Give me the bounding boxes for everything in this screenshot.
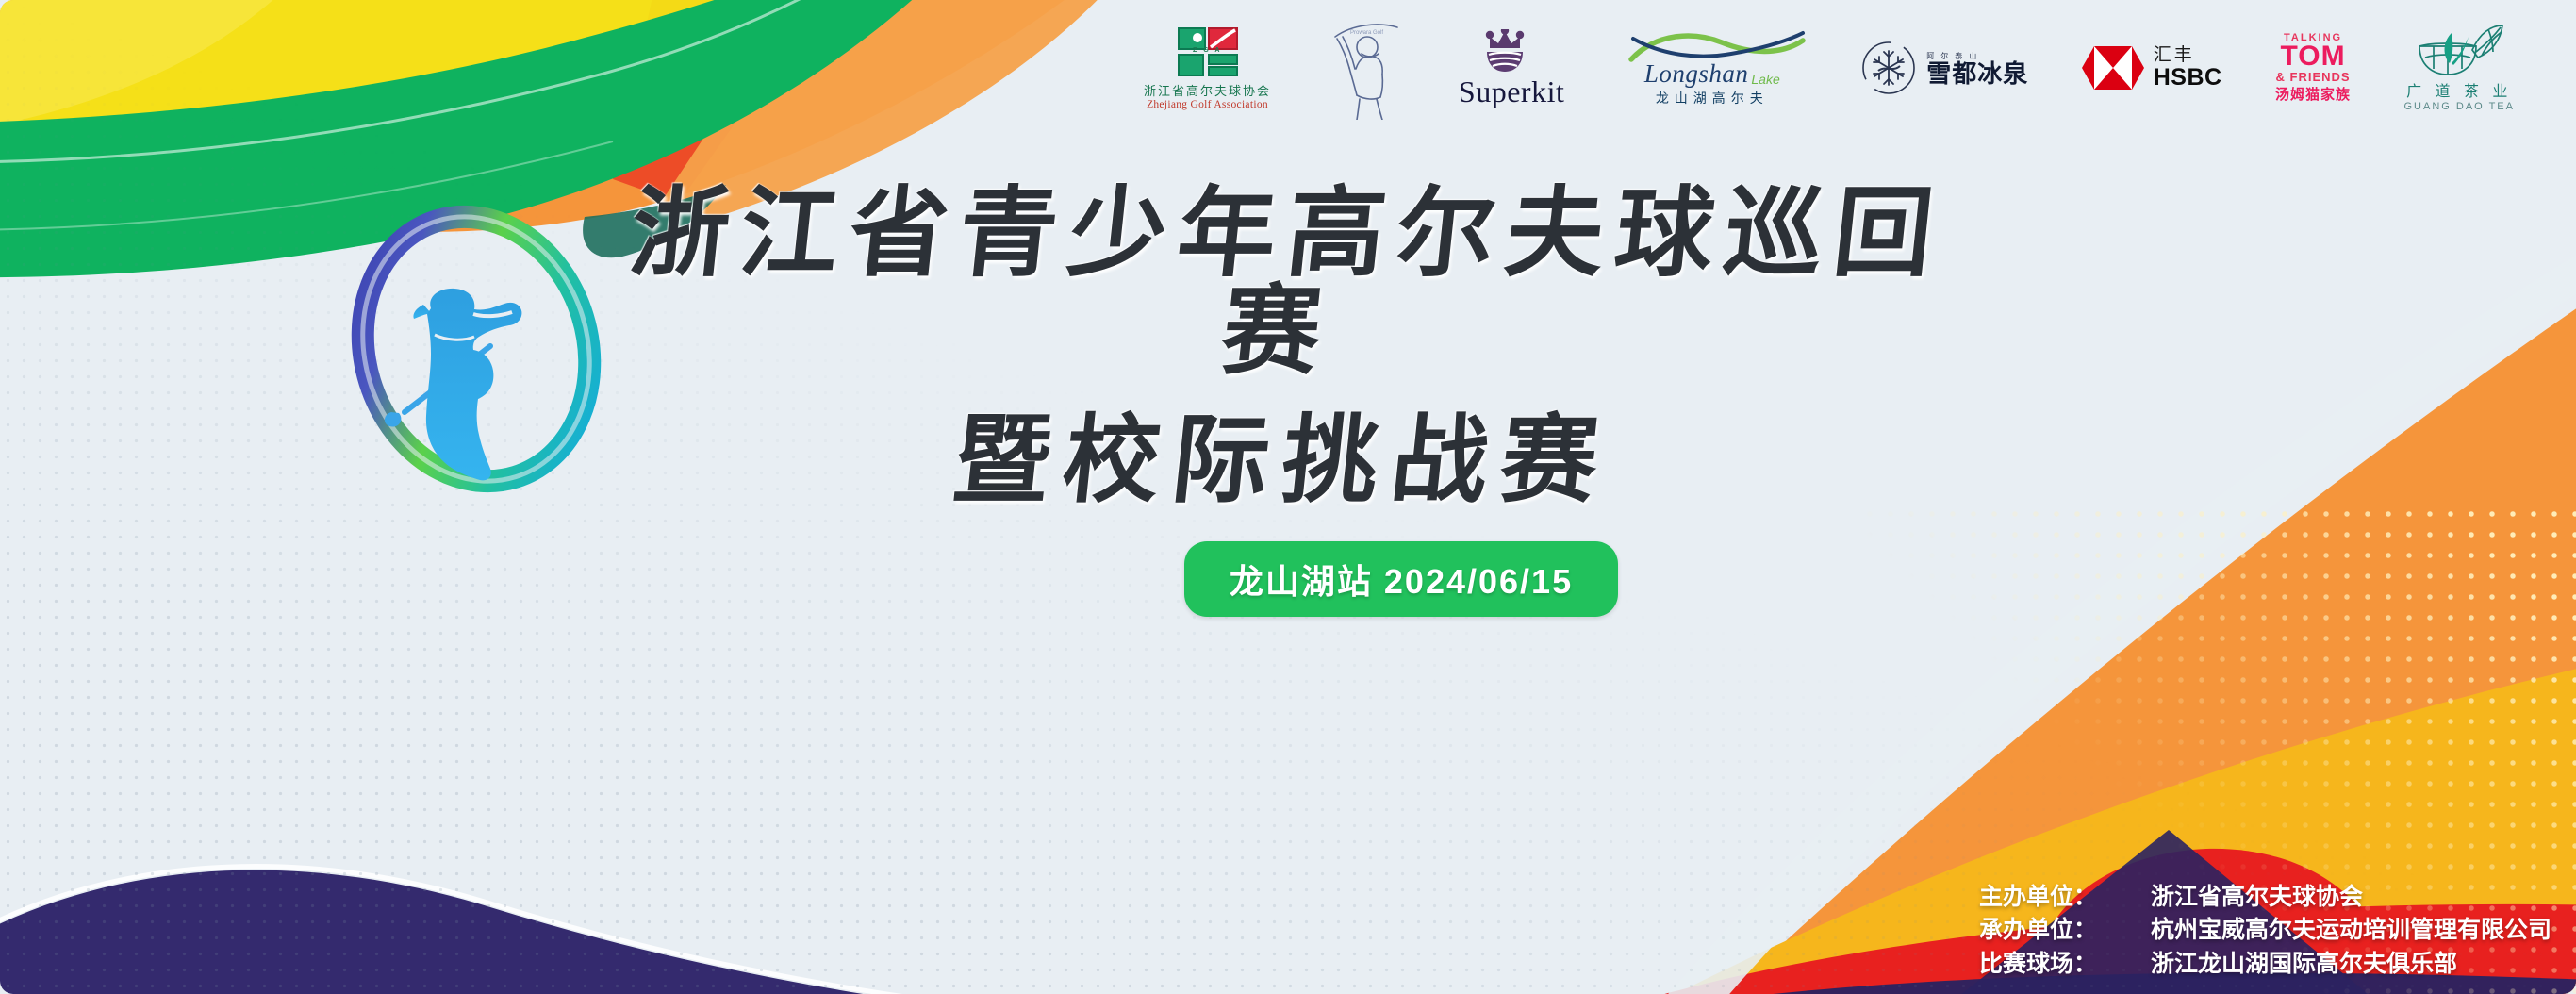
xuedu-label-cn: 雪都冰泉 bbox=[1926, 61, 2028, 86]
title-block: 浙江省青少年高尔夫球巡回赛 暨校际挑战赛 bbox=[585, 184, 1980, 508]
superkit-wordmark: Superkit bbox=[1459, 76, 1564, 107]
credit-label: 承办单位： bbox=[1979, 914, 2151, 948]
snowflake-icon bbox=[1859, 39, 1918, 97]
hsbc-label-cn: 汇丰 bbox=[2154, 46, 2222, 65]
talking-tom-label-cn: 汤姆猫家族 bbox=[2275, 84, 2351, 104]
credit-row: 主办单位： 浙江省高尔夫球协会 bbox=[1979, 881, 2551, 915]
sponsor-guang-dao-tea[interactable]: 广 道 茶 业 GUANG DAO TEA bbox=[2404, 12, 2515, 124]
credits-block: 主办单位： 浙江省高尔夫球协会 承办单位： 杭州宝威高尔夫运动培训管理有限公司 … bbox=[1979, 881, 2551, 982]
date-badge: 龙山湖站 2024/06/15 bbox=[1184, 541, 1618, 617]
zga-logo-icon: Z G A bbox=[1175, 25, 1241, 78]
page-title-line-2: 暨校际挑战赛 bbox=[580, 412, 1986, 508]
credit-value: 浙江省高尔夫球协会 bbox=[2151, 881, 2363, 915]
longshan-sub: Lake bbox=[1751, 72, 1779, 87]
longshan-wordmark: Longshan bbox=[1644, 61, 1749, 87]
page-title-line-1: 浙江省青少年高尔夫球巡回赛 bbox=[574, 184, 1990, 380]
credit-value: 杭州宝威高尔夫运动培训管理有限公司 bbox=[2151, 914, 2551, 948]
crown-icon bbox=[1484, 29, 1539, 75]
talking-tom-bottom: & FRIENDS bbox=[2276, 70, 2351, 84]
hsbc-wordmark: HSBC bbox=[2154, 65, 2222, 90]
longshan-label-cn: 龙山湖高尔夫 bbox=[1656, 89, 1769, 108]
line-golfer-icon: Prowara Golf bbox=[1324, 16, 1405, 120]
sponsor-prowara-golf[interactable]: Prowara Golf bbox=[1324, 12, 1405, 124]
sponsor-longshan-lake[interactable]: Longshan Lake 龙山湖高尔夫 bbox=[1618, 12, 1807, 124]
credit-label: 比赛球场： bbox=[1979, 948, 2151, 982]
hsbc-hexagon-icon bbox=[2082, 46, 2144, 90]
talking-tom-wordmark: TOM bbox=[2280, 43, 2345, 71]
guangdao-label-cn: 广 道 茶 业 bbox=[2406, 78, 2512, 101]
zga-monogram: Z G A bbox=[1193, 47, 1222, 54]
sponsor-label-cn: 浙江省高尔夫球协会 bbox=[1144, 81, 1271, 99]
guangdao-label-en: GUANG DAO TEA bbox=[2404, 101, 2515, 112]
credit-row: 承办单位： 杭州宝威高尔夫运动培训管理有限公司 bbox=[1979, 914, 2551, 948]
sponsor-xuedu-bingquan[interactable]: 阿尔泰山 雪都冰泉 bbox=[1859, 12, 2028, 124]
credit-value: 浙江龙山湖国际高尔夫俱乐部 bbox=[2151, 948, 2457, 982]
date-badge-text: 龙山湖站 2024/06/15 bbox=[1230, 555, 1573, 604]
sponsor-superkit[interactable]: Superkit bbox=[1459, 12, 1564, 124]
sponsor-label-en: Zhejiang Golf Association bbox=[1147, 99, 1268, 110]
sponsor-logo-strip: Z G A 浙江省高尔夫球协会 Zhejiang Golf Associatio… bbox=[1136, 0, 2522, 132]
sponsor-hsbc[interactable]: 汇丰 HSBC bbox=[2082, 12, 2222, 124]
sponsor-talking-tom[interactable]: TALKING TOM & FRIENDS 汤姆猫家族 bbox=[2275, 12, 2351, 124]
credit-row: 比赛球场： 浙江龙山湖国际高尔夫俱乐部 bbox=[1979, 948, 2551, 982]
credit-label: 主办单位： bbox=[1979, 881, 2151, 915]
svg-text:Prowara Golf: Prowara Golf bbox=[1350, 30, 1383, 36]
sponsor-zhejiang-golf-association[interactable]: Z G A 浙江省高尔夫球协会 Zhejiang Golf Associatio… bbox=[1144, 12, 1271, 124]
tea-bowl-icon bbox=[2414, 24, 2504, 78]
event-banner: Z G A 浙江省高尔夫球协会 Zhejiang Golf Associatio… bbox=[0, 0, 2576, 994]
